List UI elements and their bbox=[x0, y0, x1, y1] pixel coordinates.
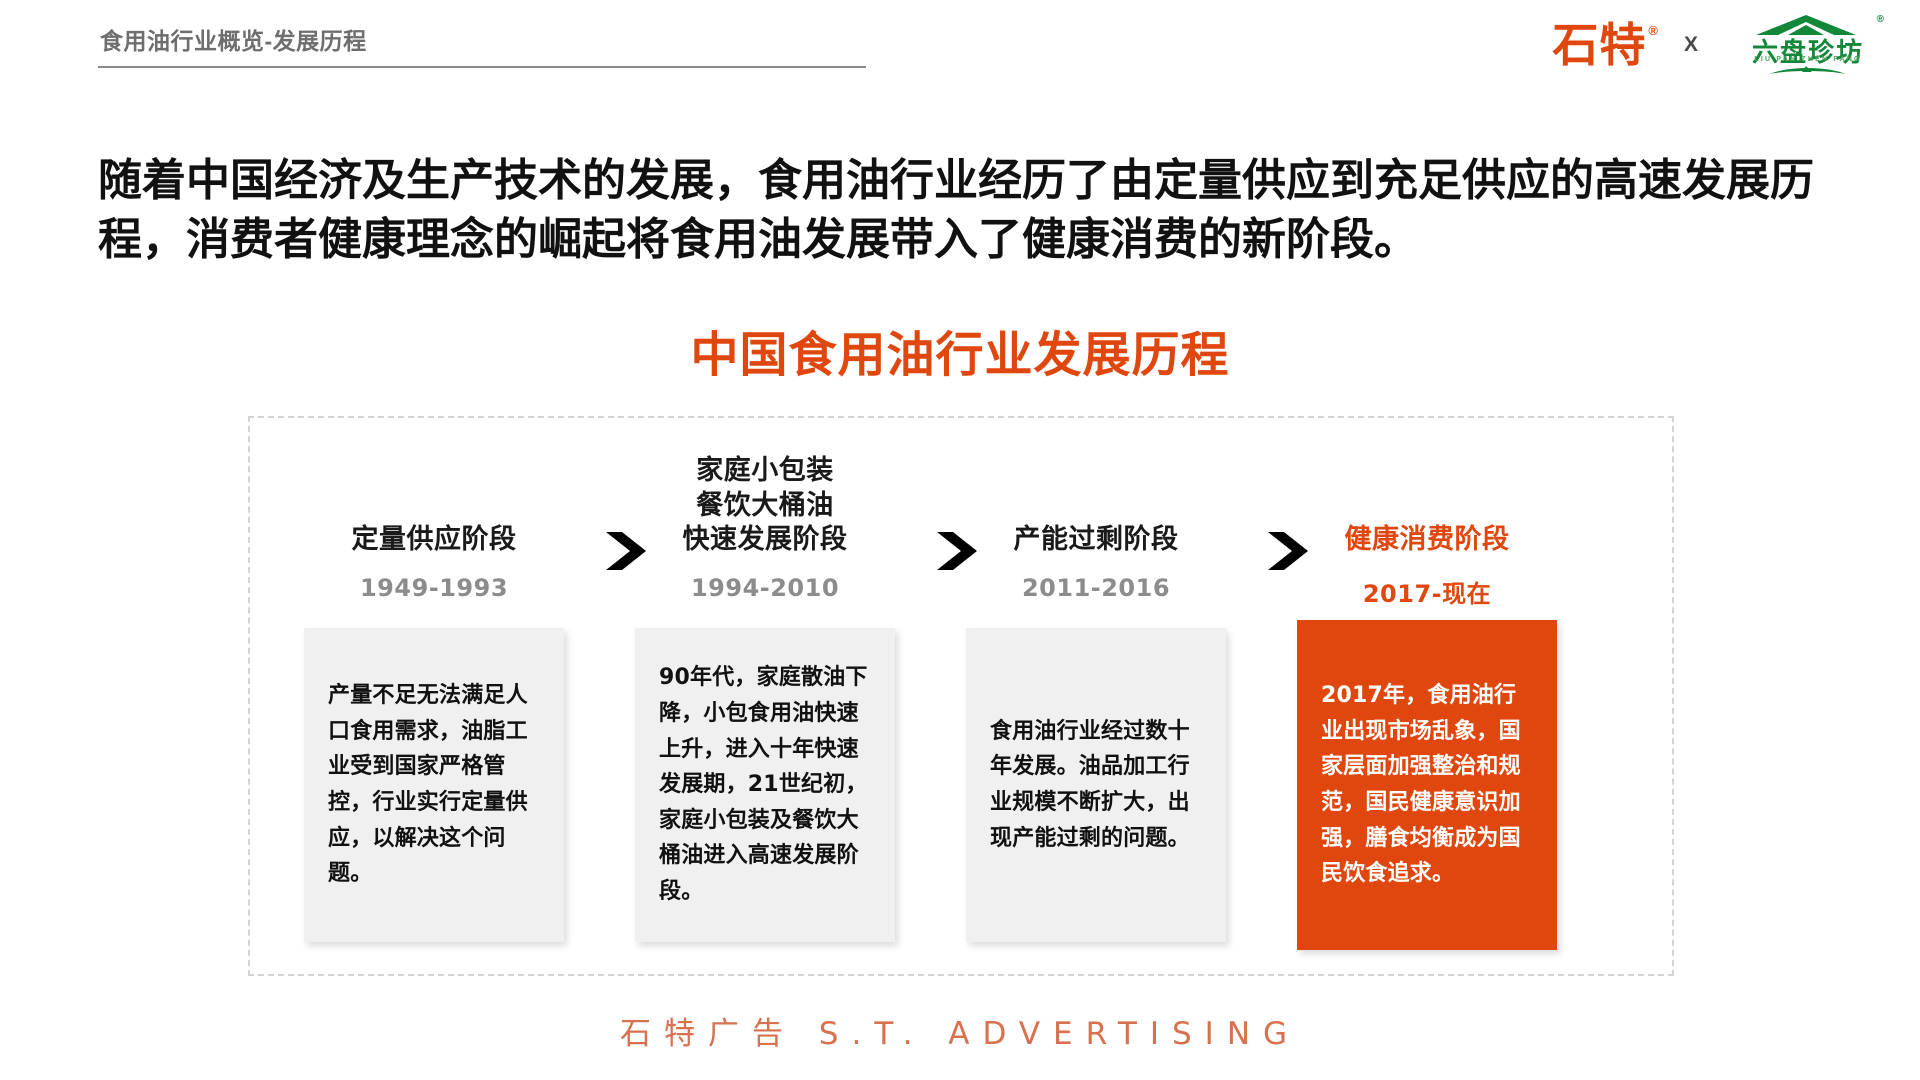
timeline-stage-3: 产能过剩阶段 2011-2016 食用油行业经过数十年发展。油品加工行业规模不断… bbox=[962, 416, 1230, 976]
brand-logo-partner-pinyin: LIU PAN ZHEN FANG bbox=[1724, 56, 1892, 63]
stage-name: 产能过剩阶段 bbox=[1014, 523, 1179, 558]
stage-name: 健康消费阶段 bbox=[1345, 523, 1510, 558]
stage-name: 定量供应阶段 bbox=[352, 523, 517, 558]
stage-card: 90年代，家庭散油下降，小包食用油快速上升，进入十年快速发展期，21世纪初，家庭… bbox=[635, 628, 895, 942]
timeline-stage-1: 定量供应阶段 1949-1993 产量不足无法满足人口食用需求，油脂工业受到国家… bbox=[300, 416, 568, 976]
logo-lockup: 石特 ® X ® 六盘珍坊 LIU PAN ZHEN FANG bbox=[1552, 10, 1892, 80]
brand-logo-shite: 石特 ® bbox=[1552, 22, 1658, 68]
stage-header: 健康消费阶段 bbox=[1293, 430, 1561, 558]
stage-header: 定量供应阶段 bbox=[300, 430, 568, 558]
stage-name: 家庭小包装 餐饮大桶油 快速发展阶段 bbox=[683, 454, 848, 558]
registered-trademark-icon: ® bbox=[1877, 14, 1884, 25]
stage-years: 1949-1993 bbox=[300, 574, 568, 602]
headline-text: 随着中国经济及生产技术的发展，食用油行业经历了由定量供应到充足供应的高速发展历程… bbox=[98, 152, 1828, 270]
stage-header: 产能过剩阶段 bbox=[962, 430, 1230, 558]
stage-years: 2011-2016 bbox=[962, 574, 1230, 602]
stage-card-text: 产量不足无法满足人口食用需求，油脂工业受到国家严格管控，行业实行定量供应，以解决… bbox=[328, 678, 540, 892]
stage-years: 2017-现在 bbox=[1293, 574, 1561, 609]
slide-root: 食用油行业概览-发展历程 石特 ® X ® 六盘珍坊 LIU PAN ZHEN … bbox=[0, 0, 1920, 1080]
stage-card-text: 2017年，食用油行业出现市场乱象，国家层面加强整治和规范，国民健康意识加强，膳… bbox=[1321, 678, 1533, 892]
stage-card: 2017年，食用油行业出现市场乱象，国家层面加强整治和规范，国民健康意识加强，膳… bbox=[1297, 620, 1557, 950]
timeline-stage-4: 健康消费阶段 2017-现在 2017年，食用油行业出现市场乱象，国家层面加强整… bbox=[1293, 416, 1561, 976]
registered-trademark-icon: ® bbox=[1648, 24, 1658, 37]
section-title: 中国食用油行业发展历程 bbox=[0, 315, 1920, 385]
footer-brandline: 石特广告 S.T. ADVERTISING bbox=[0, 1008, 1920, 1053]
stage-header: 家庭小包装 餐饮大桶油 快速发展阶段 bbox=[631, 430, 899, 558]
brand-logo-liupanzhenfang: ® 六盘珍坊 LIU PAN ZHEN FANG bbox=[1724, 12, 1892, 78]
timeline-stage-2: 家庭小包装 餐饮大桶油 快速发展阶段 1994-2010 90年代，家庭散油下降… bbox=[631, 416, 899, 976]
logo-connector-x: X bbox=[1680, 33, 1702, 57]
page-title: 食用油行业概览-发展历程 bbox=[100, 22, 367, 56]
header-divider bbox=[98, 66, 866, 68]
timeline-stages: 定量供应阶段 1949-1993 产量不足无法满足人口食用需求，油脂工业受到国家… bbox=[248, 416, 1674, 976]
brand-logo-shite-text: 石特 bbox=[1552, 22, 1646, 68]
wheat-swoosh-icon bbox=[1768, 64, 1848, 78]
stage-card: 产量不足无法满足人口食用需求，油脂工业受到国家严格管控，行业实行定量供应，以解决… bbox=[304, 628, 564, 942]
stage-card-text: 90年代，家庭散油下降，小包食用油快速上升，进入十年快速发展期，21世纪初，家庭… bbox=[659, 660, 871, 909]
stage-years: 1994-2010 bbox=[631, 574, 899, 602]
stage-card-text: 食用油行业经过数十年发展。油品加工行业规模不断扩大，出现产能过剩的问题。 bbox=[990, 714, 1202, 857]
stage-card: 食用油行业经过数十年发展。油品加工行业规模不断扩大，出现产能过剩的问题。 bbox=[966, 628, 1226, 942]
